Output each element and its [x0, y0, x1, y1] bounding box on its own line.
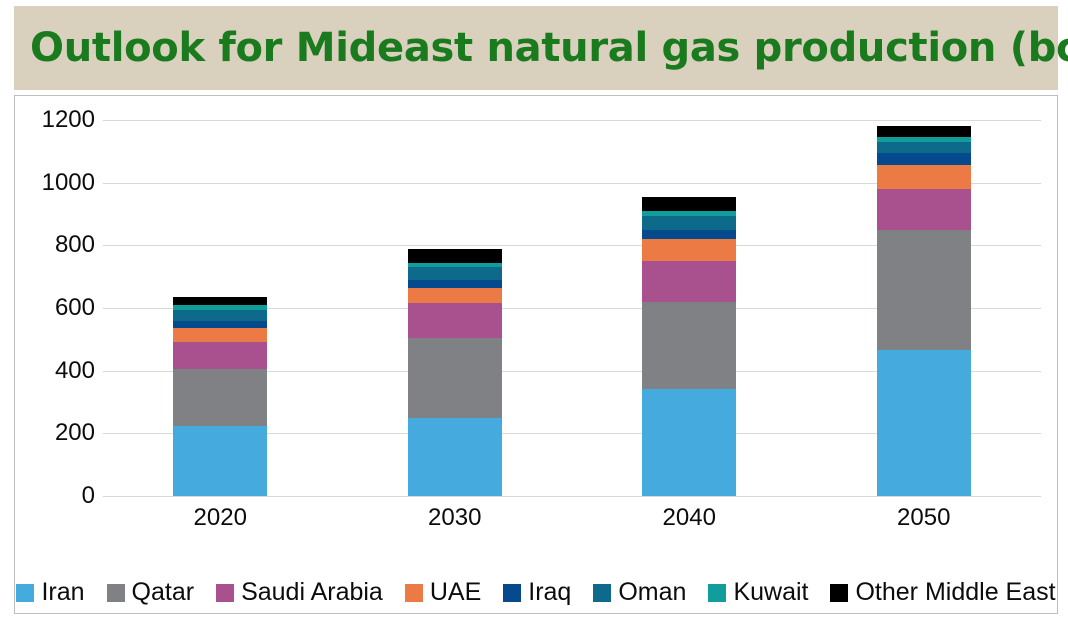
x-axis-tick-label: 2030 — [338, 504, 573, 532]
bar-segment-qatar[interactable] — [408, 338, 502, 418]
bar-segment-other-middle-east[interactable] — [173, 297, 267, 305]
bar-segment-oman[interactable] — [877, 142, 971, 153]
legend-label: Kuwait — [733, 580, 808, 605]
legend-swatch-icon — [405, 584, 423, 602]
y-axis: 020040060080010001200 — [15, 120, 95, 496]
page-title: Outlook for Mideast natural gas producti… — [30, 25, 1068, 71]
title-banner: Outlook for Mideast natural gas producti… — [14, 6, 1058, 90]
bar-segment-iran[interactable] — [642, 389, 736, 496]
bar-segment-iraq[interactable] — [173, 321, 267, 329]
bar-segment-iraq[interactable] — [408, 280, 502, 288]
legend-swatch-icon — [830, 584, 848, 602]
bar-series-container — [103, 120, 1041, 496]
bar-segment-uae[interactable] — [408, 288, 502, 304]
legend-item[interactable]: Saudi Arabia — [216, 580, 383, 605]
legend-label: Iran — [41, 580, 84, 605]
x-axis: 2020203020402050 — [103, 504, 1041, 532]
legend-label: Iraq — [528, 580, 571, 605]
bar-segment-uae[interactable] — [173, 328, 267, 342]
bar-segment-qatar[interactable] — [173, 369, 267, 425]
bar-segment-other-middle-east[interactable] — [408, 249, 502, 263]
y-axis-tick-label: 1200 — [21, 106, 95, 134]
bar-group[interactable] — [572, 120, 807, 496]
legend-swatch-icon — [107, 584, 125, 602]
legend-label: Qatar — [132, 580, 195, 605]
chart-page: Outlook for Mideast natural gas producti… — [0, 0, 1068, 621]
x-axis-tick-label: 2020 — [103, 504, 338, 532]
bar-group[interactable] — [338, 120, 573, 496]
legend-label: UAE — [430, 580, 481, 605]
bar-segment-iraq[interactable] — [642, 230, 736, 239]
y-axis-tick-label: 200 — [21, 419, 95, 447]
legend-item[interactable]: Oman — [593, 580, 686, 605]
y-axis-tick-label: 1000 — [21, 169, 95, 197]
legend-item[interactable]: Iraq — [503, 580, 571, 605]
bar-segment-uae[interactable] — [642, 239, 736, 261]
bar-segment-saudi-arabia[interactable] — [173, 342, 267, 369]
legend-swatch-icon — [16, 584, 34, 602]
bar-stack[interactable] — [408, 249, 502, 496]
bar-group[interactable] — [807, 120, 1042, 496]
bar-segment-iran[interactable] — [173, 426, 267, 497]
bar-segment-oman[interactable] — [408, 267, 502, 280]
bar-segment-other-middle-east[interactable] — [642, 197, 736, 211]
bar-segment-saudi-arabia[interactable] — [408, 303, 502, 337]
legend-item[interactable]: UAE — [405, 580, 481, 605]
y-axis-tick-label: 600 — [21, 294, 95, 322]
y-axis-tick-label: 800 — [21, 231, 95, 259]
bar-segment-saudi-arabia[interactable] — [642, 261, 736, 302]
y-axis-tick-label: 0 — [21, 482, 95, 510]
bar-segment-iran[interactable] — [408, 418, 502, 496]
legend-label: Saudi Arabia — [241, 580, 383, 605]
bar-segment-iran[interactable] — [877, 350, 971, 496]
bar-segment-iraq[interactable] — [877, 153, 971, 166]
legend-item[interactable]: Other Middle East — [830, 580, 1055, 605]
legend-swatch-icon — [503, 584, 521, 602]
bar-segment-oman[interactable] — [642, 216, 736, 230]
bar-segment-saudi-arabia[interactable] — [877, 189, 971, 230]
legend-label: Other Middle East — [855, 580, 1055, 605]
chart-frame: 020040060080010001200 2020203020402050 I… — [14, 95, 1058, 614]
x-axis-tick-label: 2050 — [807, 504, 1042, 532]
bar-stack[interactable] — [173, 297, 267, 496]
legend-swatch-icon — [593, 584, 611, 602]
legend-swatch-icon — [216, 584, 234, 602]
legend-label: Oman — [618, 580, 686, 605]
y-axis-tick-label: 400 — [21, 357, 95, 385]
legend-swatch-icon — [708, 584, 726, 602]
bar-stack[interactable] — [642, 197, 736, 496]
bar-segment-uae[interactable] — [877, 165, 971, 189]
bar-segment-other-middle-east[interactable] — [877, 126, 971, 137]
bar-segment-qatar[interactable] — [877, 230, 971, 351]
legend-item[interactable]: Kuwait — [708, 580, 808, 605]
legend-item[interactable]: Iran — [16, 580, 84, 605]
bar-stack[interactable] — [877, 126, 971, 496]
bar-segment-qatar[interactable] — [642, 302, 736, 390]
gridline — [103, 496, 1041, 497]
bar-segment-oman[interactable] — [173, 310, 267, 321]
legend-item[interactable]: Qatar — [107, 580, 195, 605]
bar-group[interactable] — [103, 120, 338, 496]
x-axis-tick-label: 2040 — [572, 504, 807, 532]
chart-legend: IranQatarSaudi ArabiaUAEIraqOmanKuwaitOt… — [15, 580, 1057, 605]
